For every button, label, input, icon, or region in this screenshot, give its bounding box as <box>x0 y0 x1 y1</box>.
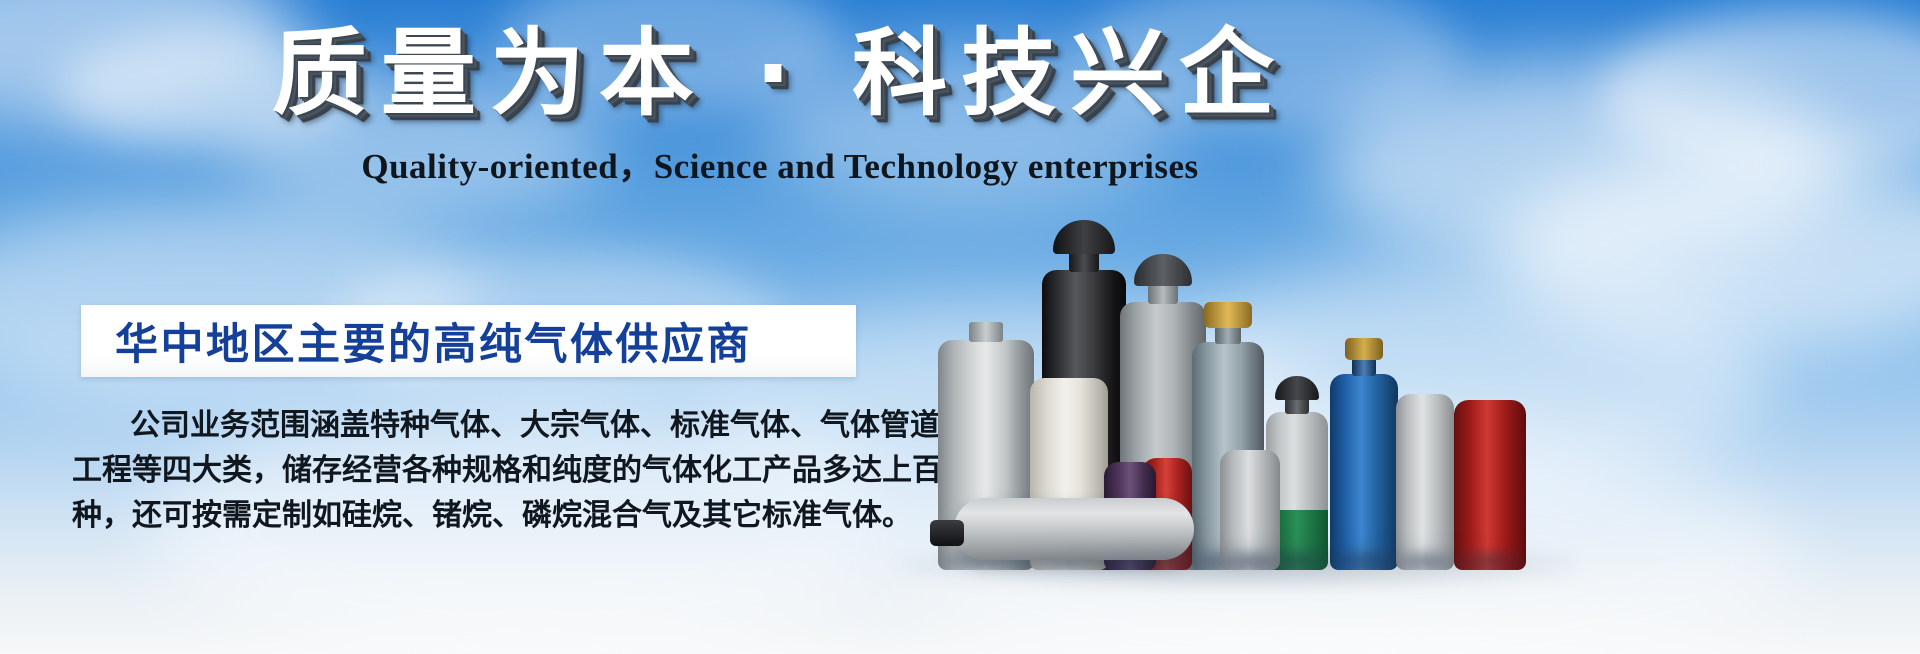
cylinder-grey-large-neck <box>969 322 1003 342</box>
cylinder-green-medium-neck <box>1285 398 1309 414</box>
gas-cylinders-group-photo <box>930 150 1550 570</box>
paragraph-line-1: 公司业务范围涵盖特种气体、大宗气体、标准气体、气体管道 <box>72 403 862 448</box>
cylinder-green-medium-cap <box>1275 376 1319 400</box>
cylinder-blue-tall-valve <box>1345 338 1383 360</box>
cylinder-grey-tall-cap <box>1134 254 1192 286</box>
banner-headline: 质量为本 · 科技兴企 <box>0 18 1560 130</box>
paragraph-line-2: 工程等四大类，储存经营各种规格和纯度的气体化工产品多达上百 <box>72 448 862 493</box>
promotional-banner: 质量为本 · 科技兴企 Quality-oriented，Science and… <box>0 0 1920 654</box>
group-ground-shadow <box>900 542 1580 588</box>
cylinder-black-tall-cap <box>1053 220 1115 254</box>
paragraph-line-3: 种，还可按需定制如硅烷、锗烷、磷烷混合气及其它标准气体。 <box>72 493 862 538</box>
cylinder-blue-tall <box>1330 374 1398 570</box>
slogan-box: 华中地区主要的高纯气体供应商 <box>81 305 856 377</box>
cylinder-teal-valve-head <box>1204 302 1252 328</box>
description-paragraph: 公司业务范围涵盖特种气体、大宗气体、标准气体、气体管道 工程等四大类，储存经营各… <box>72 403 862 538</box>
slogan-text: 华中地区主要的高纯气体供应商 <box>115 310 752 372</box>
cylinder-teal-valve-neck <box>1215 326 1241 344</box>
cylinder-blue-tall-neck <box>1352 358 1376 376</box>
